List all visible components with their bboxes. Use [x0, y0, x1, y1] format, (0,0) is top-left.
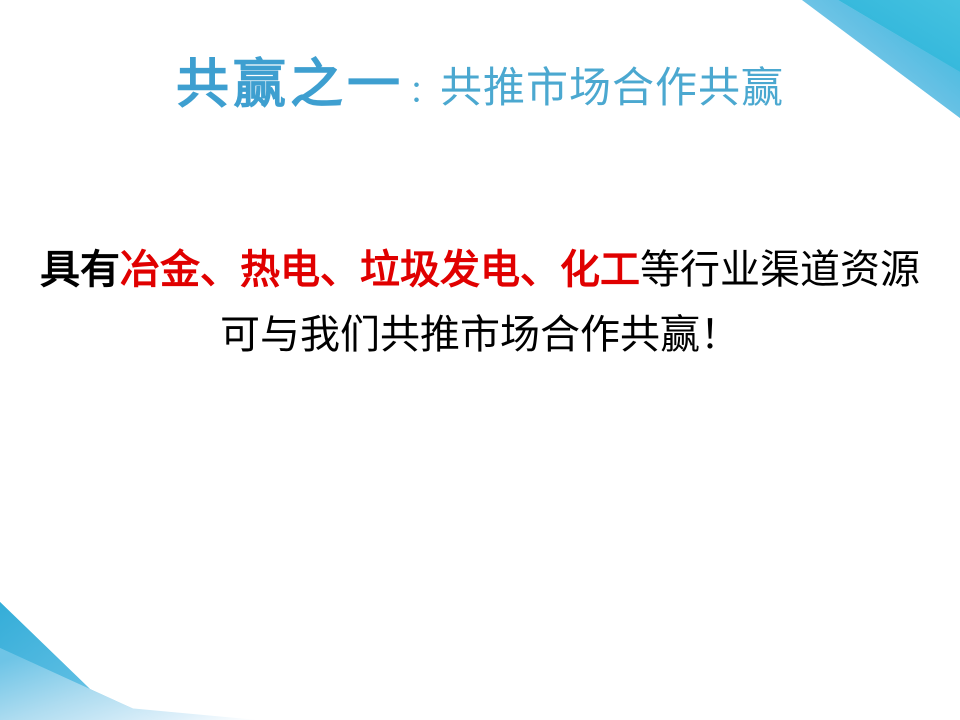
decoration-bottom-left — [0, 570, 290, 720]
body-line1-segment-1: 具有 — [40, 247, 120, 293]
body-line1-highlight-industries: 冶金、热电、垃圾发电、化工 — [120, 247, 640, 293]
slide-title: 共赢之一：共推市场合作共赢 — [0, 58, 960, 111]
diagonal-ribbon-bottom-left-icon — [0, 570, 290, 720]
title-subtitle-text: 共推市场合作共赢 — [440, 63, 784, 112]
body-line-2: 可与我们共推市场合作共赢！ — [0, 303, 960, 368]
slide-canvas: 共赢之一：共推市场合作共赢 具有冶金、热电、垃圾发电、化工等行业渠道资源 可与我… — [0, 0, 960, 720]
body-line2-segment-1: 可与我们共推市场合作共赢！ — [220, 312, 740, 358]
body-line1-segment-3: 等行业渠道资源 — [640, 247, 920, 293]
slide-body: 具有冶金、热电、垃圾发电、化工等行业渠道资源 可与我们共推市场合作共赢！ — [0, 238, 960, 368]
title-main-text: 共赢之一 — [176, 53, 404, 115]
title-separator: ： — [404, 75, 440, 110]
body-line-1: 具有冶金、热电、垃圾发电、化工等行业渠道资源 — [0, 238, 960, 303]
